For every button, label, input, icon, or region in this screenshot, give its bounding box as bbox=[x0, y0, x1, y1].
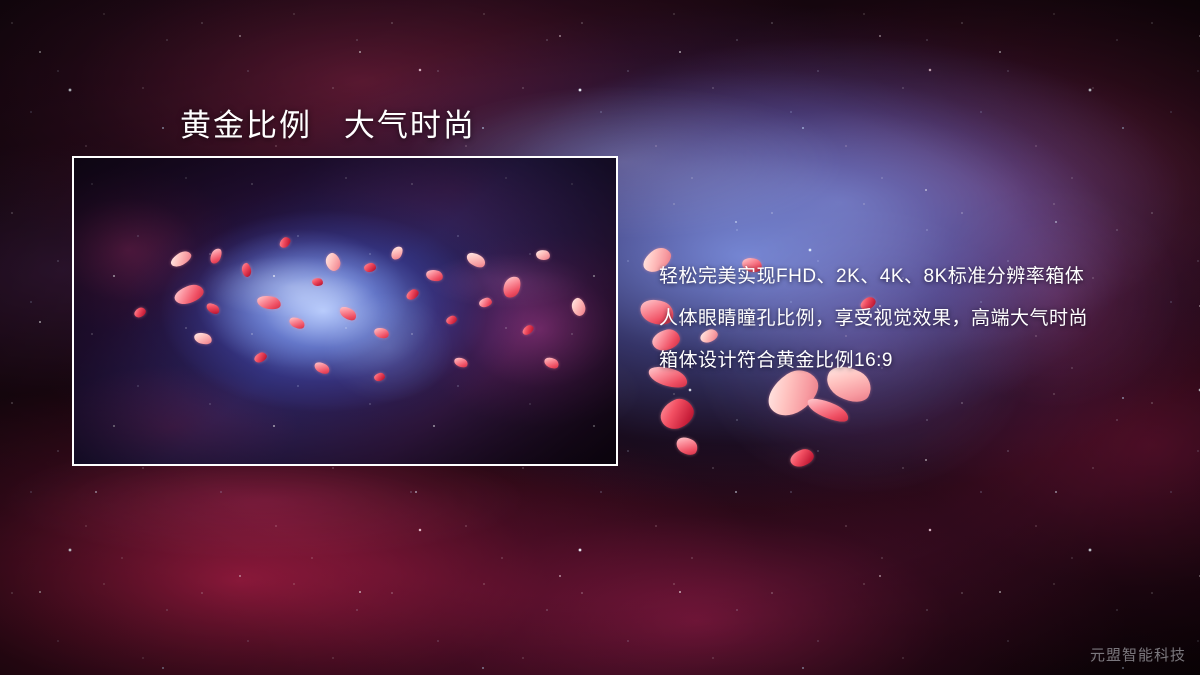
petal bbox=[805, 394, 852, 427]
preview-image-frame bbox=[72, 156, 618, 466]
presentation-slide: 黄金比例 大气时尚 轻松完美实现FHD、2K、4K、8K标准分辨率箱体 人体眼睛… bbox=[0, 0, 1200, 675]
body-copy-block: 轻松完美实现FHD、2K、4K、8K标准分辨率箱体 人体眼睛瞳孔比例，享受视觉效… bbox=[659, 256, 1159, 382]
page-title: 黄金比例 大气时尚 bbox=[180, 100, 476, 145]
petal bbox=[656, 394, 698, 433]
body-copy-line-2: 人体眼睛瞳孔比例，享受视觉效果，高端大气时尚 bbox=[659, 298, 1159, 340]
body-copy-line-3: 箱体设计符合黄金比例16:9 bbox=[659, 340, 1159, 382]
petal bbox=[673, 434, 700, 459]
body-copy-line-1: 轻松完美实现FHD、2K、4K、8K标准分辨率箱体 bbox=[659, 256, 1159, 298]
petal bbox=[788, 447, 816, 470]
preview-image bbox=[74, 158, 616, 464]
watermark: 元盟智能科技 bbox=[1090, 644, 1186, 665]
preview-vignette bbox=[74, 158, 616, 464]
